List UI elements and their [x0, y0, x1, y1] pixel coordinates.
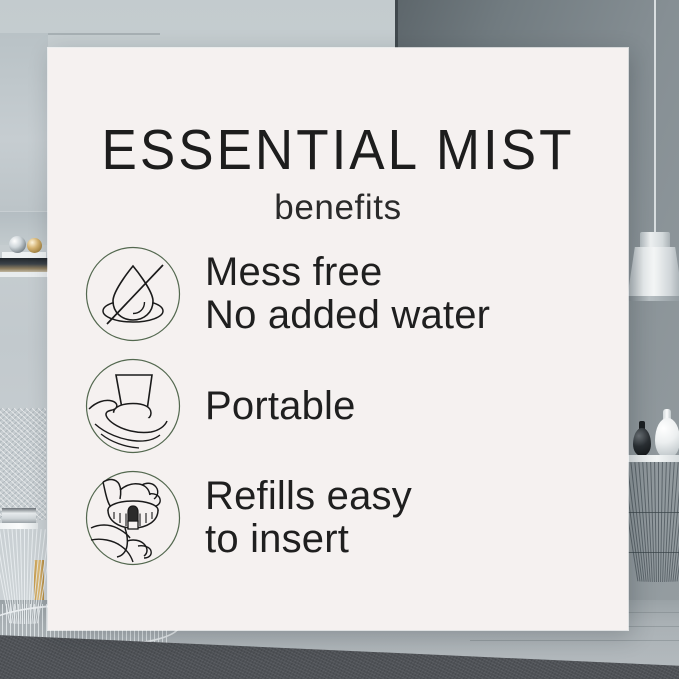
wire-hoop — [628, 552, 679, 553]
benefits-list: Mess free No added water Portable — [48, 238, 628, 574]
side-table-top — [625, 455, 679, 462]
insert-refill-icon — [83, 468, 183, 568]
hand-holding-diffuser-icon — [83, 356, 183, 456]
pendant-lamp-neck — [640, 232, 670, 248]
benefit-label: Mess free No added water — [205, 251, 490, 337]
no-water-droplet-icon — [83, 244, 183, 344]
page-subtitle: benefits — [48, 188, 628, 228]
wire-hoop — [628, 512, 679, 513]
gold-sphere-decor — [27, 238, 42, 253]
shelf-plank — [0, 272, 50, 277]
wire-side-table — [628, 462, 679, 582]
product-benefits-infographic: ESSENTIAL MIST benefits Mess free No add… — [0, 0, 679, 679]
wall-niche — [0, 33, 48, 211]
list-item: Refills easy to insert — [48, 462, 628, 574]
list-item: Mess free No added water — [48, 238, 628, 350]
pendant-lamp-cord — [654, 0, 656, 236]
white-vase — [655, 418, 679, 458]
black-vase — [633, 428, 651, 456]
benefits-card: ESSENTIAL MIST benefits Mess free No add… — [48, 48, 628, 630]
silver-sphere-decor — [9, 236, 26, 253]
floor-plank — [470, 640, 679, 641]
books-stack — [0, 258, 48, 273]
benefit-label: Portable — [205, 385, 356, 428]
list-item: Portable — [48, 350, 628, 462]
benefit-label: Refills easy to insert — [205, 475, 412, 561]
books-stack — [2, 508, 36, 523]
knit-throw-blanket — [0, 408, 46, 520]
pendant-lamp-shade — [627, 247, 679, 299]
page-title: ESSENTIAL MIST — [48, 118, 628, 183]
pendant-lamp-lip — [627, 296, 679, 301]
